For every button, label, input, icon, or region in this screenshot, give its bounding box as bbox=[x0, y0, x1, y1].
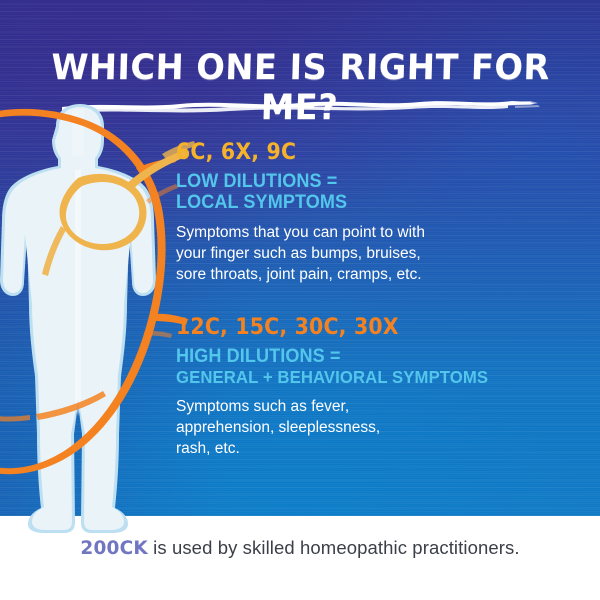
footer-dose-code: 200CK bbox=[80, 538, 148, 559]
body-high: Symptoms such as fever, apprehension, sl… bbox=[176, 396, 505, 459]
body-low: Symptoms that you can point to with your… bbox=[176, 222, 425, 285]
body-high-line2: apprehension, sleeplessness, bbox=[176, 417, 505, 438]
section-high-dilutions: 12C, 15C, 30C, 30X HIGH DILUTIONS = GENE… bbox=[176, 315, 505, 459]
dose-label-low: 6C, 6X, 9C bbox=[176, 140, 408, 165]
subhead-low-line2: LOCAL SYMPTOMS bbox=[176, 192, 413, 213]
dose-label-high: 12C, 15C, 30C, 30X bbox=[176, 315, 482, 340]
subhead-high: HIGH DILUTIONS = GENERAL + BEHAVIORAL SY… bbox=[176, 346, 505, 387]
footer-text: is used by skilled homeopathic practitio… bbox=[148, 537, 520, 558]
section-low-dilutions: 6C, 6X, 9C LOW DILUTIONS = LOCAL SYMPTOM… bbox=[176, 140, 425, 285]
subhead-low-line1: LOW DILUTIONS = bbox=[176, 171, 413, 192]
body-high-line3: rash, etc. bbox=[176, 438, 505, 459]
subhead-high-line2: GENERAL + BEHAVIORAL SYMPTOMS bbox=[176, 367, 488, 387]
subhead-low: LOW DILUTIONS = LOCAL SYMPTOMS bbox=[176, 171, 425, 213]
subhead-high-line1: HIGH DILUTIONS = bbox=[176, 346, 488, 367]
infographic-poster: WHICH ONE IS RIGHT FOR ME? bbox=[0, 0, 600, 600]
body-high-line1: Symptoms such as fever, bbox=[176, 396, 505, 417]
body-low-line2: your finger such as bumps, bruises, bbox=[176, 243, 425, 264]
body-low-line3: sore throats, joint pain, cramps, etc. bbox=[176, 264, 425, 285]
orange-brush-circle bbox=[0, 104, 196, 534]
footer-note: 200CK is used by skilled homeopathic pra… bbox=[0, 537, 600, 559]
body-low-line1: Symptoms that you can point to with bbox=[176, 222, 425, 243]
